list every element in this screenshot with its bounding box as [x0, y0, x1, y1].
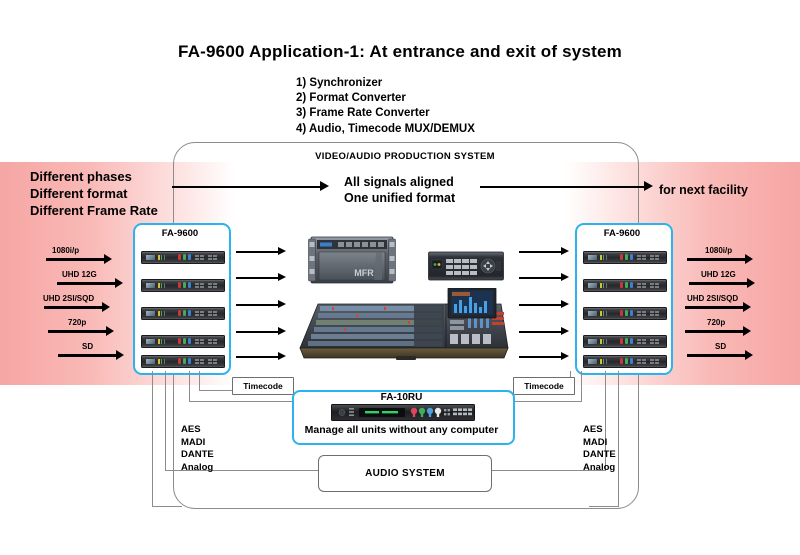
- unit-knob-red: [178, 282, 181, 288]
- mid-line-1: [236, 251, 280, 253]
- left-signal-arrowhead-1: [104, 254, 112, 264]
- page-title: FA-9600 Application-1: At entrance and e…: [0, 42, 800, 62]
- unit-knob-red: [620, 282, 623, 288]
- unit-knob-blue: [630, 282, 633, 288]
- unit-display: [588, 359, 597, 365]
- audio-io-labels-left: AES MADI DANTE Analog: [181, 424, 214, 474]
- unit-button-grid-b: [208, 255, 217, 260]
- unit-button-grid-b: [208, 359, 217, 364]
- fa10ru-subtitle: Manage all units without any computer: [292, 424, 511, 436]
- main-flow-line-right: [480, 186, 646, 188]
- mid-arrowhead-3: [561, 300, 569, 308]
- fa9600-unit[interactable]: [141, 307, 225, 320]
- unit-button-grid-b: [208, 339, 217, 344]
- wire-right-outer-h: [589, 506, 619, 507]
- unit-button-grid-a: [637, 255, 646, 260]
- mid-arrow-group-right: [519, 248, 581, 368]
- audio-io-right-dante: DANTE: [583, 449, 616, 462]
- right-signal-arrowhead-1: [745, 254, 753, 264]
- unit-knob-red: [620, 338, 623, 344]
- fa9600-unit[interactable]: [141, 335, 225, 348]
- unit-knob-red: [620, 358, 623, 364]
- fa9600-unit[interactable]: [583, 355, 667, 368]
- unit-button-grid-b: [650, 311, 659, 316]
- wire-left-outer-h: [152, 506, 182, 507]
- input-condition-line-3: Different Frame Rate: [30, 202, 158, 219]
- unit-knob-green: [625, 254, 628, 260]
- audio-io-left-aes: AES: [181, 424, 214, 437]
- control-panel-unit[interactable]: [428, 251, 504, 281]
- fa9600-unit[interactable]: [583, 307, 667, 320]
- right-signal-arrowhead-5: [745, 350, 753, 360]
- audio-mixing-console[interactable]: [296, 288, 514, 361]
- unit-knob-green: [183, 254, 186, 260]
- unit-button-grid-b: [208, 283, 217, 288]
- left-signal-line-3: [44, 306, 104, 309]
- audio-io-left-analog: Analog: [181, 462, 214, 475]
- fa9600-unit[interactable]: [583, 251, 667, 264]
- right-signal-line-2: [689, 282, 749, 285]
- unit-button-grid-a: [195, 339, 204, 344]
- main-flow-arrowhead-right: [644, 181, 653, 191]
- audio-io-right-analog: Analog: [583, 462, 616, 475]
- unit-knob-green: [183, 310, 186, 316]
- right-signal-line-5: [687, 354, 747, 357]
- left-signal-label-sd: SD: [82, 342, 93, 351]
- left-signal-arrowhead-2: [115, 278, 123, 288]
- unit-knob-blue: [188, 254, 191, 260]
- fa10ru-device[interactable]: [331, 404, 475, 421]
- production-system-label: VIDEO/AUDIO PRODUCTION SYSTEM: [173, 151, 637, 162]
- unit-button-grid-b: [650, 359, 659, 364]
- unit-knob-red: [620, 310, 623, 316]
- mid-arrowhead-4: [561, 327, 569, 335]
- feature-item-1: 1) Synchronizer: [296, 76, 475, 91]
- wire-right-fa10ru-v: [581, 371, 582, 402]
- unit-button-grid-b: [650, 255, 659, 260]
- feature-item-2: 2) Format Converter: [296, 91, 475, 106]
- mid-arrowhead-5: [561, 352, 569, 360]
- right-signal-label-sd: SD: [715, 342, 726, 351]
- wire-left-fa10ru-v: [189, 371, 190, 402]
- unit-led-bank: [600, 339, 607, 345]
- feature-item-4: 4) Audio, Timecode MUX/DEMUX: [296, 122, 475, 137]
- input-condition-headline: Different phases Different format Differ…: [30, 168, 158, 219]
- unit-knob-green: [183, 338, 186, 344]
- unit-led-bank: [600, 255, 607, 261]
- fa9600-unit[interactable]: [141, 355, 225, 368]
- right-signal-line-3: [685, 306, 745, 309]
- aligned-signal-headline: All signals aligned One unified format: [344, 174, 455, 206]
- left-signal-line-5: [58, 354, 118, 357]
- wire-left-fa10ru-h: [189, 401, 293, 402]
- wire-right-fa10ru-h: [510, 401, 582, 402]
- unit-display: [146, 311, 155, 317]
- mid-arrowhead-2: [278, 273, 286, 281]
- fa9600-unit[interactable]: [583, 335, 667, 348]
- unit-knob-green: [625, 310, 628, 316]
- input-condition-line-1: Different phases: [30, 168, 158, 185]
- mid-arrowhead-2: [561, 273, 569, 281]
- feature-item-3: 3) Frame Rate Converter: [296, 106, 475, 121]
- mid-arrowhead-3: [278, 300, 286, 308]
- wire-left-audio-v: [165, 371, 166, 471]
- right-signal-arrowhead-4: [743, 326, 751, 336]
- mfr-brand-text: MFR: [354, 268, 374, 278]
- unit-led-bank: [600, 359, 607, 365]
- mid-line-2: [236, 277, 280, 279]
- unit-knob-blue: [188, 282, 191, 288]
- unit-knob-blue: [630, 254, 633, 260]
- unit-button-grid-a: [195, 311, 204, 316]
- audio-io-left-madi: MADI: [181, 437, 214, 450]
- unit-knob-green: [183, 358, 186, 364]
- wire-left-timecode-h: [199, 390, 233, 391]
- audio-system-box[interactable]: AUDIO SYSTEM: [318, 455, 492, 492]
- unit-knob-red: [178, 254, 181, 260]
- mid-arrowhead-4: [278, 327, 286, 335]
- unit-knob-red: [620, 254, 623, 260]
- audio-io-right-aes: AES: [583, 424, 616, 437]
- unit-knob-green: [625, 282, 628, 288]
- unit-knob-blue: [188, 358, 191, 364]
- left-signal-label-uhd12g: UHD 12G: [62, 270, 97, 279]
- fa9600-unit-group-left[interactable]: [133, 223, 231, 375]
- timecode-box-left[interactable]: Timecode: [232, 377, 294, 395]
- unit-button-grid-a: [195, 283, 204, 288]
- audio-io-labels-right: AES MADI DANTE Analog: [583, 424, 616, 474]
- audio-io-right-madi: MADI: [583, 437, 616, 450]
- mid-arrow-group-left: [236, 248, 298, 368]
- unit-button-grid-a: [637, 311, 646, 316]
- mid-line-5: [236, 356, 280, 358]
- unit-knob-blue: [630, 338, 633, 344]
- mid-line-4: [236, 331, 280, 333]
- fa9600-unit[interactable]: [141, 279, 225, 292]
- feature-list: 1) Synchronizer 2) Format Converter 3) F…: [296, 76, 475, 137]
- unit-knob-red: [178, 338, 181, 344]
- left-signal-arrow-group: 1080i/p UHD 12G UHD 2SI/SQD 720p SD: [0, 240, 133, 370]
- aligned-line-1: All signals aligned: [344, 174, 455, 190]
- unit-led-bank: [158, 283, 165, 289]
- unit-knob-blue: [188, 338, 191, 344]
- next-facility-label: for next facility: [659, 183, 748, 197]
- mid-line-2: [519, 277, 563, 279]
- mid-line-3: [236, 304, 280, 306]
- unit-display: [588, 283, 597, 289]
- right-signal-arrowhead-2: [747, 278, 755, 288]
- timecode-box-right[interactable]: Timecode: [513, 377, 575, 395]
- aligned-line-2: One unified format: [344, 190, 455, 206]
- left-signal-arrowhead-3: [102, 302, 110, 312]
- mid-line-1: [519, 251, 563, 253]
- right-signal-label-uhd2sisqd: UHD 2SI/SQD: [687, 294, 738, 303]
- main-flow-arrowhead-left: [320, 181, 329, 191]
- mid-line-5: [519, 356, 563, 358]
- left-signal-line-1: [46, 258, 106, 261]
- left-signal-arrowhead-5: [116, 350, 124, 360]
- unit-led-bank: [158, 339, 165, 345]
- unit-led-bank: [158, 359, 165, 365]
- right-signal-line-4: [685, 330, 745, 333]
- fa9600-unit-group-right[interactable]: [575, 223, 673, 375]
- left-signal-label-1080ip: 1080i/p: [52, 246, 79, 255]
- right-signal-label-uhd12g: UHD 12G: [701, 270, 736, 279]
- right-signal-label-1080ip: 1080i/p: [705, 246, 732, 255]
- mid-arrowhead-1: [561, 247, 569, 255]
- mid-arrowhead-1: [278, 247, 286, 255]
- unit-knob-blue: [188, 310, 191, 316]
- fa10ru-title: FA-10RU: [292, 392, 511, 403]
- mfr-router-chassis[interactable]: MFR: [308, 236, 396, 284]
- left-signal-label-720p: 720p: [68, 318, 86, 327]
- left-signal-arrowhead-4: [106, 326, 114, 336]
- unit-knob-blue: [630, 358, 633, 364]
- fa9600-label-left: FA-9600: [133, 228, 227, 239]
- unit-led-bank: [600, 283, 607, 289]
- unit-knob-red: [178, 358, 181, 364]
- unit-display: [146, 283, 155, 289]
- unit-button-grid-a: [195, 255, 204, 260]
- fa9600-unit[interactable]: [583, 279, 667, 292]
- unit-button-grid-a: [637, 359, 646, 364]
- unit-display: [588, 339, 597, 345]
- right-signal-label-720p: 720p: [707, 318, 725, 327]
- mid-arrowhead-5: [278, 352, 286, 360]
- unit-button-grid-b: [650, 339, 659, 344]
- unit-knob-blue: [630, 310, 633, 316]
- audio-io-left-dante: DANTE: [181, 449, 214, 462]
- unit-knob-green: [625, 338, 628, 344]
- unit-display: [588, 255, 597, 261]
- unit-display: [146, 255, 155, 261]
- unit-display: [146, 339, 155, 345]
- mid-line-3: [519, 304, 563, 306]
- unit-display: [146, 359, 155, 365]
- unit-knob-green: [625, 358, 628, 364]
- unit-button-grid-b: [208, 311, 217, 316]
- unit-led-bank: [158, 311, 165, 317]
- unit-button-grid-a: [637, 339, 646, 344]
- left-signal-line-4: [48, 330, 108, 333]
- unit-knob-green: [183, 282, 186, 288]
- unit-button-grid-b: [650, 283, 659, 288]
- unit-knob-red: [178, 310, 181, 316]
- fa9600-unit[interactable]: [141, 251, 225, 264]
- fa9600-label-right: FA-9600: [575, 228, 669, 239]
- left-signal-line-2: [57, 282, 117, 285]
- unit-button-grid-a: [195, 359, 204, 364]
- right-signal-line-1: [687, 258, 747, 261]
- right-signal-arrowhead-3: [743, 302, 751, 312]
- left-signal-label-uhd2sisqd: UHD 2SI/SQD: [43, 294, 94, 303]
- input-condition-line-2: Different format: [30, 185, 158, 202]
- unit-button-grid-a: [637, 283, 646, 288]
- wire-right-outer-v: [618, 371, 619, 507]
- wire-left-timecode-v: [199, 371, 200, 391]
- right-signal-arrow-group: 1080i/p UHD 12G UHD 2SI/SQD 720p SD: [669, 240, 800, 370]
- unit-led-bank: [600, 311, 607, 317]
- mid-line-4: [519, 331, 563, 333]
- main-flow-line-left: [172, 186, 322, 188]
- unit-led-bank: [158, 255, 165, 261]
- unit-display: [588, 311, 597, 317]
- wire-left-outer-v: [152, 371, 153, 507]
